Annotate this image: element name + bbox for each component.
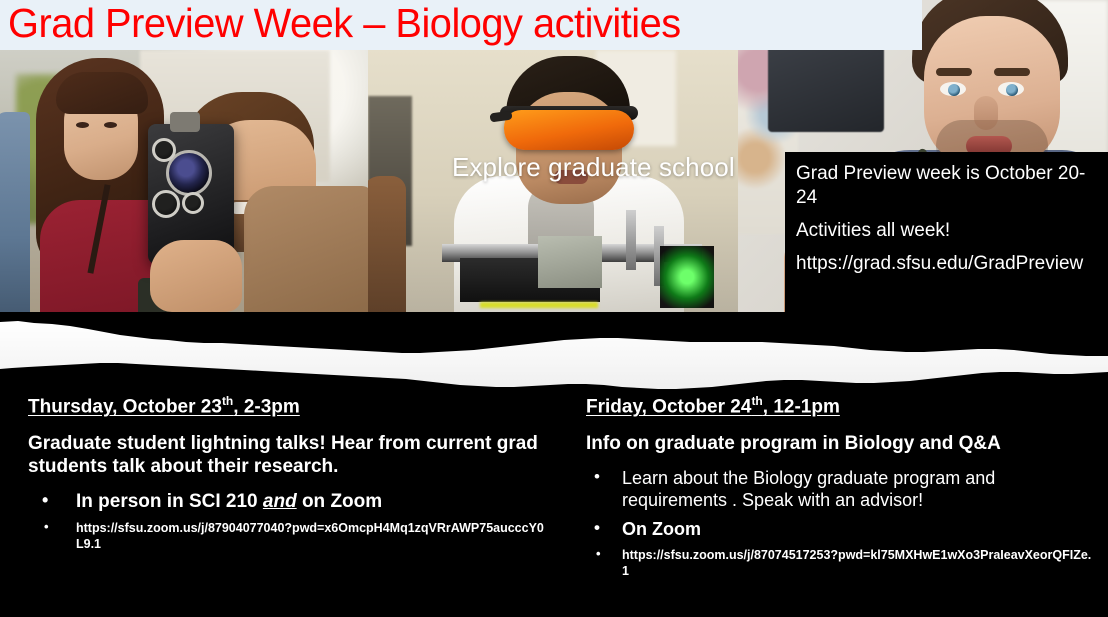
session-friday-description: Info on graduate program in Biology and … — [586, 432, 1096, 455]
session-thursday: Thursday, October 23th, 2-3pm Graduate s… — [28, 394, 548, 559]
sessions-section: Thursday, October 23th, 2-3pm Graduate s… — [0, 394, 1108, 617]
session-friday-bullet-learn: Learn about the Biology graduate program… — [586, 467, 1096, 511]
photo1-woman-bangs — [56, 72, 148, 114]
session-thursday-bullets: In person in SCI 210 and on Zoom https:/… — [28, 490, 548, 552]
photo1-woman-eye-right — [104, 122, 117, 128]
photo3-iris-right — [1006, 84, 1018, 96]
session-thursday-zoom-link[interactable]: https://sfsu.zoom.us/j/87904077040?pwd=x… — [28, 520, 548, 552]
photo3-eyebrow-left — [936, 68, 972, 76]
photo1-camera-handle — [170, 112, 200, 132]
session-thursday-date-sup: th — [222, 394, 233, 408]
photo1-woman-eye-left — [76, 122, 89, 128]
session-thursday-date-time: , 2-3pm — [233, 396, 300, 417]
photo2-green-laser-glow — [660, 246, 714, 308]
bullet-text-after: on Zoom — [297, 491, 382, 512]
photo2-yellow-beam — [480, 302, 598, 308]
bullet-emphasis: and — [263, 491, 297, 512]
session-thursday-description: Graduate student lightning talks! Hear f… — [28, 432, 548, 478]
photo1-camera-lens-b — [152, 190, 180, 218]
session-thursday-bullet-location: In person in SCI 210 and on Zoom — [28, 490, 548, 513]
photo1-camera-lens-c — [182, 192, 204, 214]
session-friday-bullets: Learn about the Biology graduate program… — [586, 467, 1096, 579]
session-friday-date-time: , 12-1pm — [763, 396, 840, 417]
session-thursday-date-day: Thursday, October 23 — [28, 396, 222, 417]
photo1-camera-lens-a — [152, 138, 176, 162]
photo-students-with-film-camera — [0, 50, 368, 312]
photo2-bystander — [368, 176, 406, 312]
photo1-man-torso — [244, 186, 368, 312]
explore-graduate-school-caption: Explore graduate school — [452, 152, 735, 183]
session-friday-date-sup: th — [751, 394, 762, 408]
session-friday-date-day: Friday, October 24 — [586, 396, 751, 417]
session-friday-bullet-on-zoom: On Zoom — [586, 518, 1096, 540]
info-box-line-url[interactable]: https://grad.sfsu.edu/GradPreview — [796, 252, 1096, 276]
photo1-bystander — [0, 112, 30, 312]
bullet-text-before: In person in SCI 210 — [76, 491, 263, 512]
title-bar: Grad Preview Week – Biology activities — [0, 0, 922, 50]
session-friday-date: Friday, October 24th, 12-1pm — [586, 394, 1096, 418]
session-friday: Friday, October 24th, 12-1pm Info on gra… — [586, 394, 1096, 586]
session-friday-zoom-link[interactable]: https://sfsu.zoom.us/j/87074517253?pwd=k… — [586, 547, 1096, 579]
photo1-hand — [150, 240, 242, 312]
slide-canvas: Grad Preview Week – Biology activities — [0, 0, 1108, 617]
photo3-eyebrow-right — [994, 68, 1030, 76]
photo2-optical-block — [538, 236, 602, 288]
photo3-monitor — [768, 36, 884, 132]
grad-preview-info-box: Grad Preview week is October 20-24 Activ… — [785, 152, 1108, 312]
info-box-line-activities: Activities all week! — [796, 219, 1096, 243]
info-box-line-dates: Grad Preview week is October 20-24 — [796, 162, 1096, 210]
torn-paper-divider — [0, 312, 1108, 394]
page-title: Grad Preview Week – Biology activities — [8, 0, 891, 49]
torn-paper-shape — [0, 312, 1108, 394]
photo3-iris-left — [948, 84, 960, 96]
session-thursday-date: Thursday, October 23th, 2-3pm — [28, 394, 548, 418]
photo2-optical-post-a — [626, 210, 636, 270]
photo3-nose — [974, 96, 998, 130]
photo2-orange-safety-goggles — [504, 110, 634, 150]
